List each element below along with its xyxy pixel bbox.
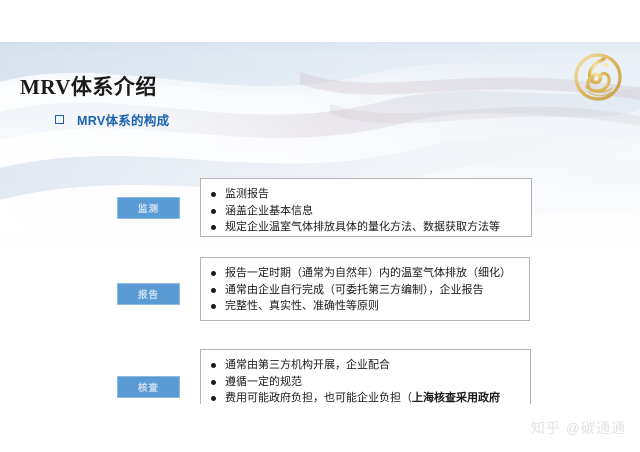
bullet-item: 规定企业温室气体排放具体的量化方法、数据获取方法等 bbox=[211, 219, 523, 236]
watermark-text: 知乎 @碳通通 bbox=[531, 418, 626, 438]
bullet-text: 遵循一定的规范 bbox=[225, 374, 522, 391]
bullet-item: 监测报告 bbox=[211, 186, 523, 203]
bullet-item: 通常由企业自行完成（可委托第三方编制），企业报告 bbox=[211, 282, 521, 299]
bullet-dot-icon bbox=[211, 209, 216, 214]
slide-subtitle: MRV体系的构成 bbox=[55, 110, 169, 129]
bullet-text-bold: 上海核查采用政府 bbox=[412, 392, 500, 404]
bullet-item: 完整性、真实性、准确性等原则 bbox=[211, 298, 521, 315]
content-box-report: 报告一定时期（通常为自然年）内的温室气体排放（细化） 通常由企业自行完成（可委托… bbox=[200, 257, 530, 321]
stage-label-monitor: 监测 bbox=[117, 197, 180, 219]
bullet-text: 费用可能政府负担，也可能企业负担（上海核查采用政府 购买服务的方式，企业无需付费… bbox=[225, 390, 522, 404]
stage-label-report: 报告 bbox=[117, 283, 180, 305]
bullet-dot-icon bbox=[211, 396, 216, 401]
slide-title: MRV体系介绍 bbox=[20, 71, 157, 101]
bullet-text: 监测报告 bbox=[225, 186, 523, 203]
slide-subtitle-label: MRV体系的构成 bbox=[77, 110, 169, 129]
bullet-dot-icon bbox=[211, 380, 216, 385]
bullet-text: 报告一定时期（通常为自然年）内的温室气体排放（细化） bbox=[225, 265, 521, 282]
content-box-monitor: 监测报告 涵盖企业基本信息 规定企业温室气体排放具体的量化方法、数据获取方法等 bbox=[200, 178, 532, 237]
bullet-dot-icon bbox=[211, 288, 216, 293]
slide-canvas: MRV体系介绍 MRV体系的构成 监测 监测报告 涵盖企业基本信息 规定企业温室… bbox=[0, 42, 640, 404]
bullet-dot-icon bbox=[211, 192, 216, 197]
bullet-dot-icon bbox=[211, 225, 216, 230]
bullet-dot-icon bbox=[211, 363, 216, 368]
square-bullet-icon bbox=[55, 115, 64, 124]
bullet-item-emphasis: 费用可能政府负担，也可能企业负担（上海核查采用政府 购买服务的方式，企业无需付费… bbox=[211, 390, 522, 404]
bullet-dot-icon bbox=[211, 304, 216, 309]
bullet-item: 遵循一定的规范 bbox=[211, 374, 522, 391]
bullet-text-normal: 费用可能政府负担，也可能企业负担（ bbox=[225, 392, 412, 404]
bullet-dot-icon bbox=[211, 271, 216, 276]
bullet-text: 规定企业温室气体排放具体的量化方法、数据获取方法等 bbox=[225, 219, 523, 236]
bullet-item: 通常由第三方机构开展，企业配合 bbox=[211, 357, 522, 374]
bullet-text: 完整性、真实性、准确性等原则 bbox=[225, 298, 521, 315]
bullet-text: 通常由企业自行完成（可委托第三方编制），企业报告 bbox=[225, 282, 521, 299]
content-box-verify: 通常由第三方机构开展，企业配合 遵循一定的规范 费用可能政府负担，也可能企业负担… bbox=[200, 349, 531, 404]
stage-label-verify: 核查 bbox=[117, 376, 180, 398]
bullet-text: 通常由第三方机构开展，企业配合 bbox=[225, 357, 522, 374]
bullet-text: 涵盖企业基本信息 bbox=[225, 203, 523, 220]
bullet-item: 涵盖企业基本信息 bbox=[211, 203, 523, 220]
company-logo-icon bbox=[566, 45, 630, 109]
bullet-item: 报告一定时期（通常为自然年）内的温室气体排放（细化） bbox=[211, 265, 521, 282]
